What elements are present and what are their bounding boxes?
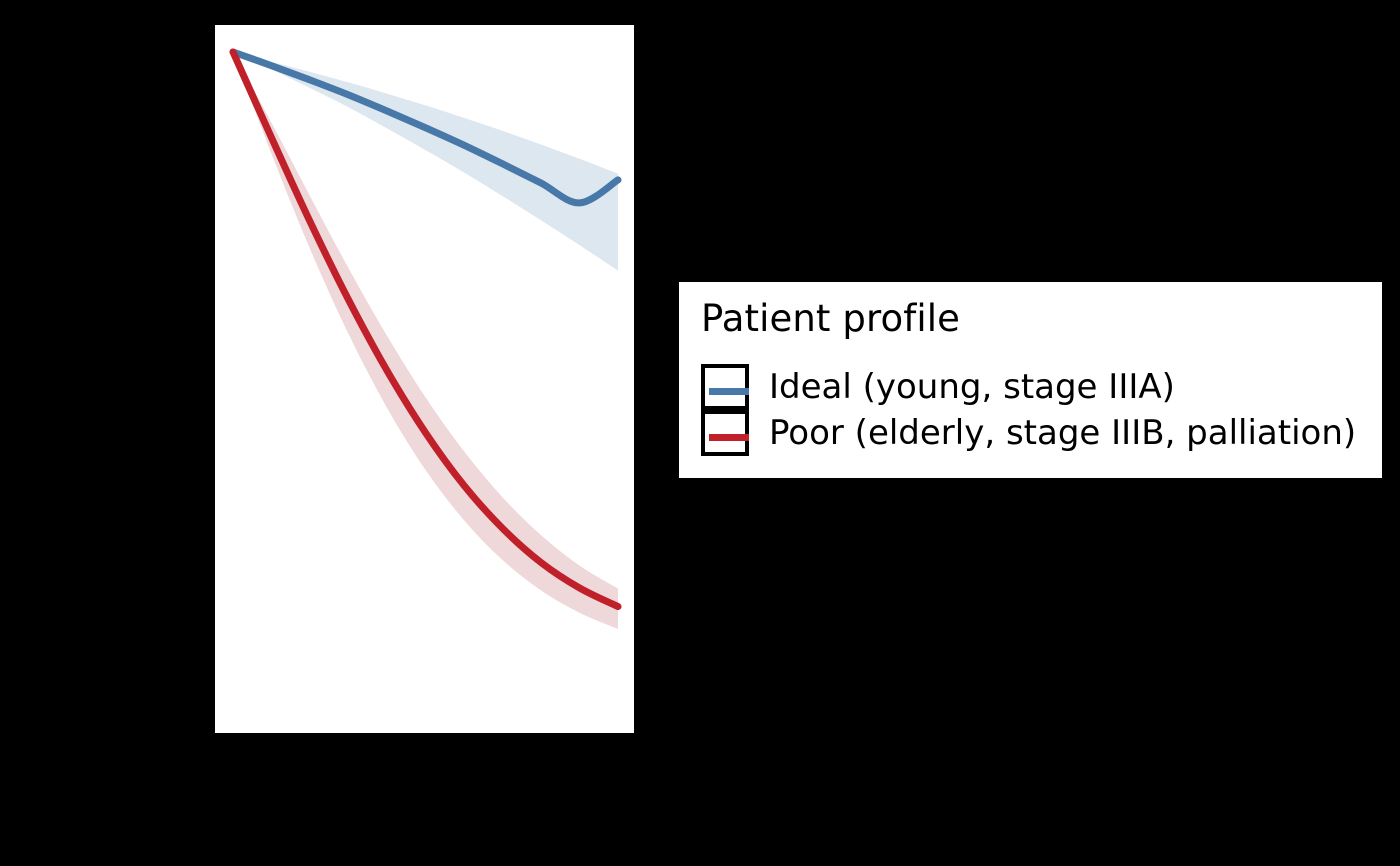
legend-label-ideal: Ideal (young, stage IIIA) [769, 366, 1175, 408]
legend-box: Patient profile Ideal (young, stage IIIA… [679, 282, 1382, 478]
line-swatch-icon-ideal [709, 388, 749, 395]
legend-content: Patient profile Ideal (young, stage IIIA… [679, 282, 1382, 478]
legend-title: Patient profile [701, 296, 960, 342]
figure-canvas: Patient profile Ideal (young, stage IIIA… [0, 0, 1400, 866]
legend-handle-box-ideal [701, 364, 749, 410]
survival-curves-plot [215, 25, 634, 733]
legend-label-poor: Poor (elderly, stage IIIB, palliation) [769, 412, 1356, 454]
line-swatch-icon-poor [709, 434, 749, 441]
legend-handle-box-poor [701, 410, 749, 456]
plot-axes [215, 25, 634, 733]
